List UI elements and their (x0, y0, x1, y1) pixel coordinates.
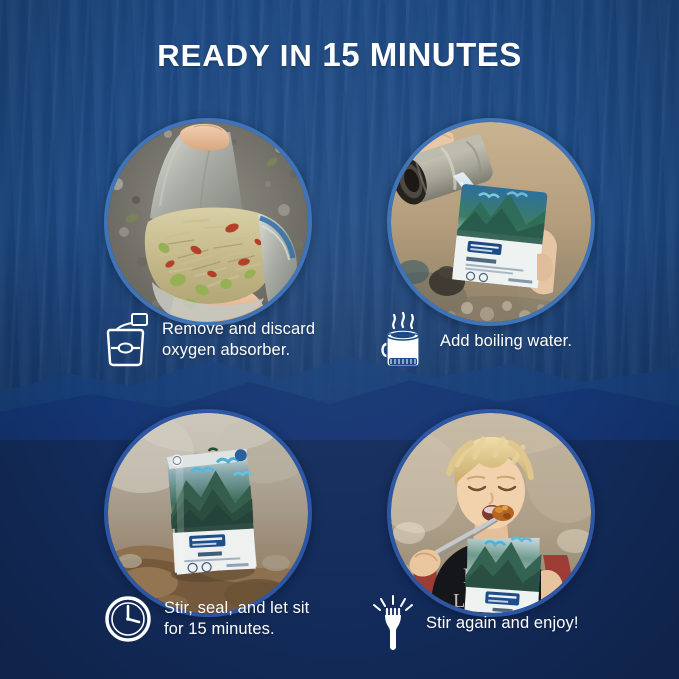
step-3-photo-circle (104, 409, 312, 617)
page-title: READY IN 15 MINUTES (0, 38, 679, 71)
pouring-boiling-water-photo (391, 122, 591, 322)
step-4: Stir again and enjoy! (372, 595, 627, 651)
ready-in-15-minutes-infographic: READY IN 15 MINUTES (0, 0, 679, 679)
step-2-label: Add boiling water. (440, 331, 572, 352)
step-2-photo-circle (387, 118, 595, 326)
step-3-label: Stir, seal, and let sit for 15 minutes. (164, 598, 309, 640)
step-1: Remove and discard oxygen absorber. (104, 312, 359, 368)
sealed-pouch-on-rocks-photo (108, 413, 308, 613)
step-4-label: Stir again and enjoy! (426, 613, 579, 634)
pouch-oxygen-absorber-icon (104, 312, 150, 368)
title-lead: READY IN (157, 38, 322, 73)
steaming-pot-icon (378, 312, 428, 370)
clock-icon (104, 595, 152, 643)
step-3: Stir, seal, and let sit for 15 minutes. (104, 595, 359, 643)
open-pouch-dried-food-photo (108, 122, 308, 322)
step-2: Add boiling water. (378, 312, 628, 370)
fork-sparkle-icon (372, 595, 414, 651)
title-emphasis: 15 MINUTES (322, 36, 521, 73)
child-eating-from-pouch-photo: F LA (391, 413, 591, 613)
step-1-photo-circle (104, 118, 312, 326)
step-1-label: Remove and discard oxygen absorber. (162, 319, 315, 361)
step-4-photo-circle: F LA (387, 409, 595, 617)
